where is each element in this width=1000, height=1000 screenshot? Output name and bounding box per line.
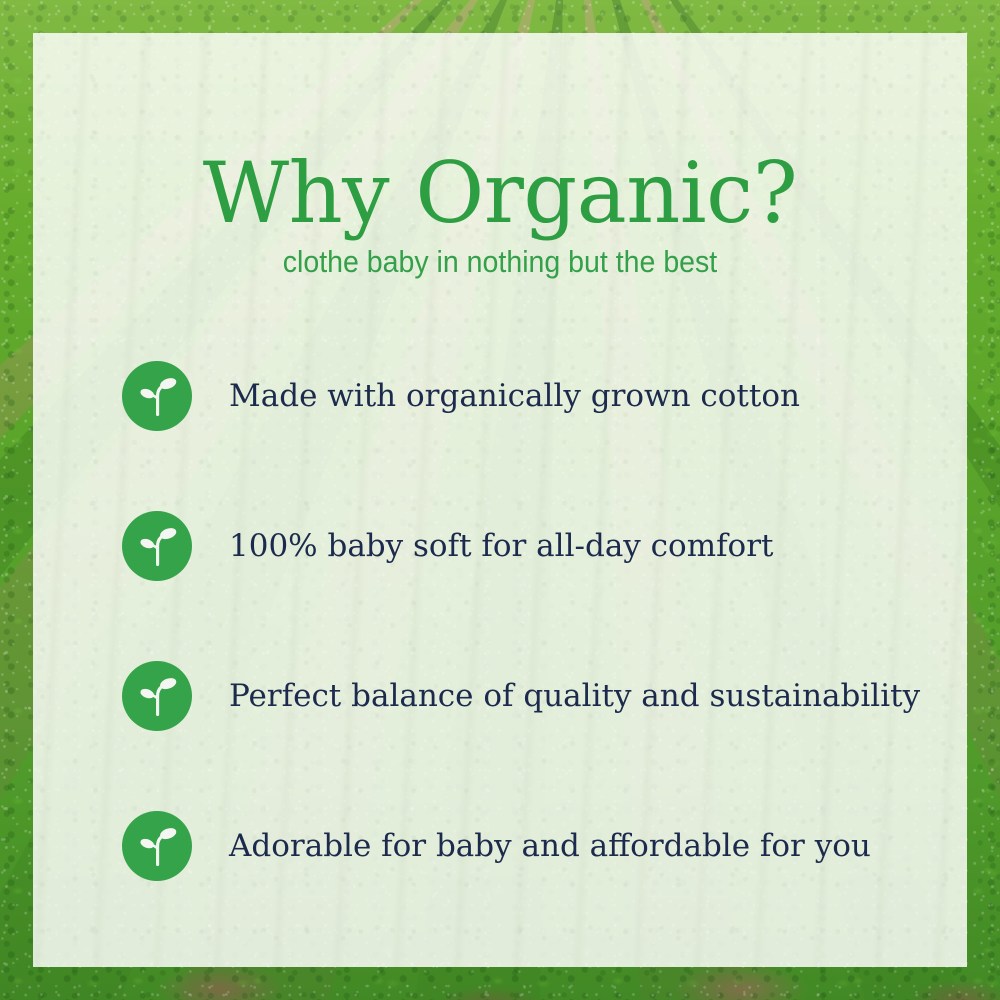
sprout-icon xyxy=(122,811,192,881)
page-title: Why Organic? xyxy=(33,151,967,235)
list-item-label: Adorable for baby and affordable for you xyxy=(229,829,871,863)
list-item-label: 100% baby soft for all-day comfort xyxy=(229,529,774,563)
list-item-label: Made with organically grown cotton xyxy=(229,379,800,413)
sprout-icon xyxy=(122,661,192,731)
list-item: Perfect balance of quality and sustainab… xyxy=(122,621,947,771)
benefits-list: Made with organically grown cotton 100% … xyxy=(122,321,947,921)
list-item: Adorable for baby and affordable for you xyxy=(122,771,947,921)
list-item: Made with organically grown cotton xyxy=(122,321,947,471)
promo-graphic: Why Organic? clothe baby in nothing but … xyxy=(0,0,1000,1000)
content-panel: Why Organic? clothe baby in nothing but … xyxy=(33,33,967,967)
sprout-icon xyxy=(122,361,192,431)
list-item: 100% baby soft for all-day comfort xyxy=(122,471,947,621)
sprout-icon xyxy=(122,511,192,581)
list-item-label: Perfect balance of quality and sustainab… xyxy=(229,679,920,713)
page-subtitle: clothe baby in nothing but the best xyxy=(70,246,929,277)
